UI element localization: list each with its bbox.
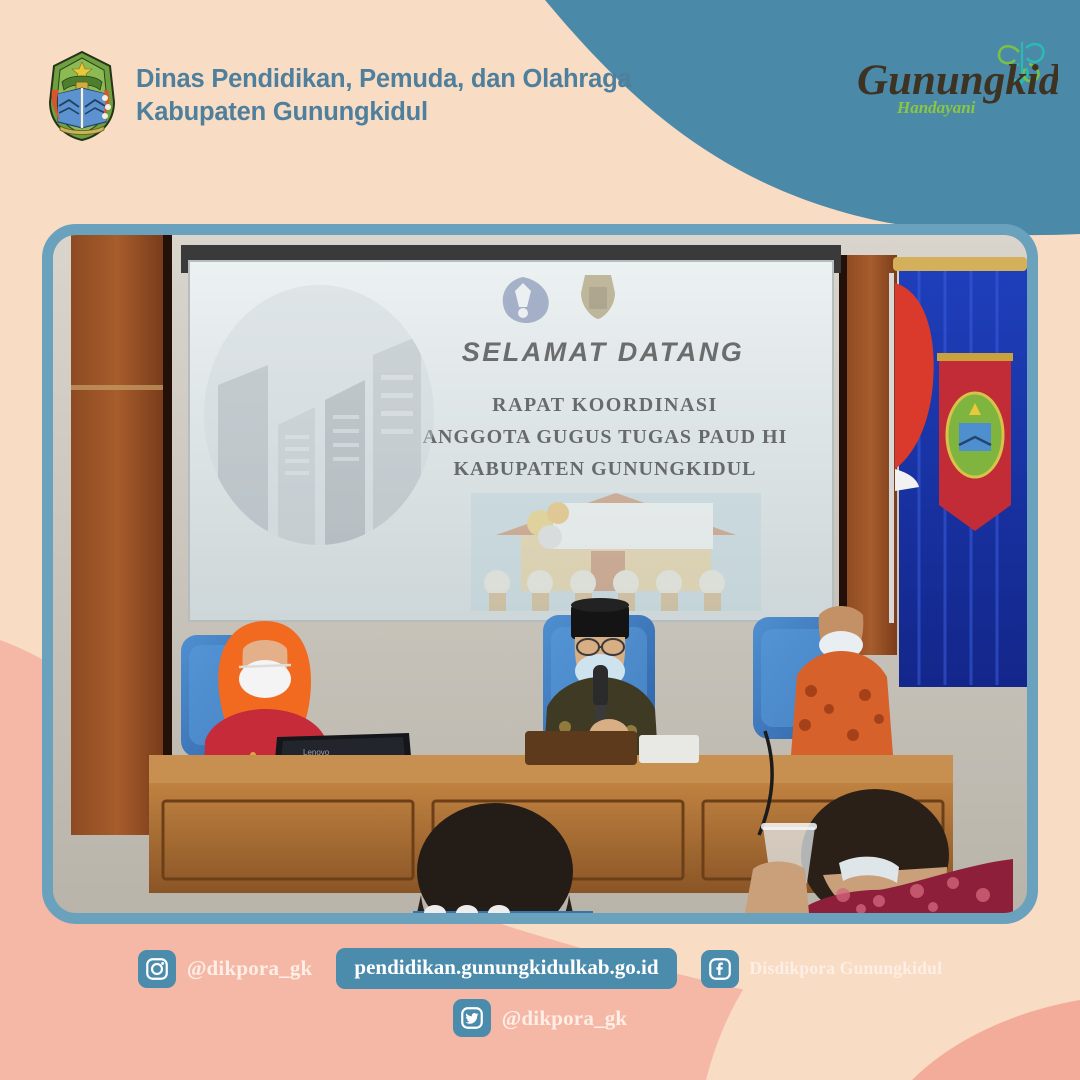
event-photo-card: SELAMAT DATANG RAPAT KOORDINASI ANGGOTA … [42, 224, 1038, 924]
footer-social-bar: @dikpora_gk pendidikan.gunungkidulkab.go… [0, 948, 1080, 1037]
wood-panel-left [71, 235, 163, 835]
brand-wordmark: Gunungkidul [857, 57, 1058, 104]
page-title: Dinas Pendidikan, Pemuda, dan Olahraga K… [136, 63, 631, 128]
header: Dinas Pendidikan, Pemuda, dan Olahraga K… [46, 50, 631, 142]
slide-heading: SELAMAT DATANG [462, 337, 744, 367]
regency-pennant-banner [937, 353, 1013, 531]
footer-item-instagram[interactable]: @dikpora_gk [138, 950, 313, 988]
projection-screen: SELAMAT DATANG RAPAT KOORDINASI ANGGOTA … [181, 245, 841, 621]
school-with-children-illustration [471, 493, 761, 611]
footer-item-twitter[interactable]: @dikpora_gk [453, 999, 628, 1037]
skyscrapers-photo [204, 285, 434, 545]
header-title-line2: Kabupaten Gunungkidul [136, 96, 631, 129]
header-title-line1: Dinas Pendidikan, Pemuda, dan Olahraga [136, 65, 631, 93]
twitter-handle: @dikpora_gk [502, 1006, 628, 1031]
slide-line3: KABUPATEN GUNUNGKIDUL [453, 458, 756, 480]
slide-line2: ANGGOTA GUGUS TUGAS PAUD HI [423, 426, 788, 448]
brand-tagline: Handayani [896, 98, 976, 117]
slide-line1: RAPAT KOORDINASI [492, 394, 718, 416]
meeting-photograph: SELAMAT DATANG RAPAT KOORDINASI ANGGOTA … [53, 235, 1027, 913]
footer-row-secondary: @dikpora_gk [453, 999, 628, 1037]
instagram-handle: @dikpora_gk [187, 956, 313, 981]
instagram-icon[interactable] [138, 950, 176, 988]
facebook-page-name: Disdikpora Gunungkidul [750, 958, 943, 979]
gunungkidul-regency-crest-icon [46, 50, 118, 142]
facebook-icon[interactable] [701, 950, 739, 988]
twitter-icon[interactable] [453, 999, 491, 1037]
website-url-pill[interactable]: pendidikan.gunungkidulkab.go.id [336, 948, 676, 989]
footer-item-facebook[interactable]: Disdikpora Gunungkidul [701, 950, 943, 988]
footer-row-primary: @dikpora_gk pendidikan.gunungkidulkab.go… [138, 948, 942, 989]
gunungkidul-brand-logo: Gunungkidul Handayani [843, 34, 1058, 129]
